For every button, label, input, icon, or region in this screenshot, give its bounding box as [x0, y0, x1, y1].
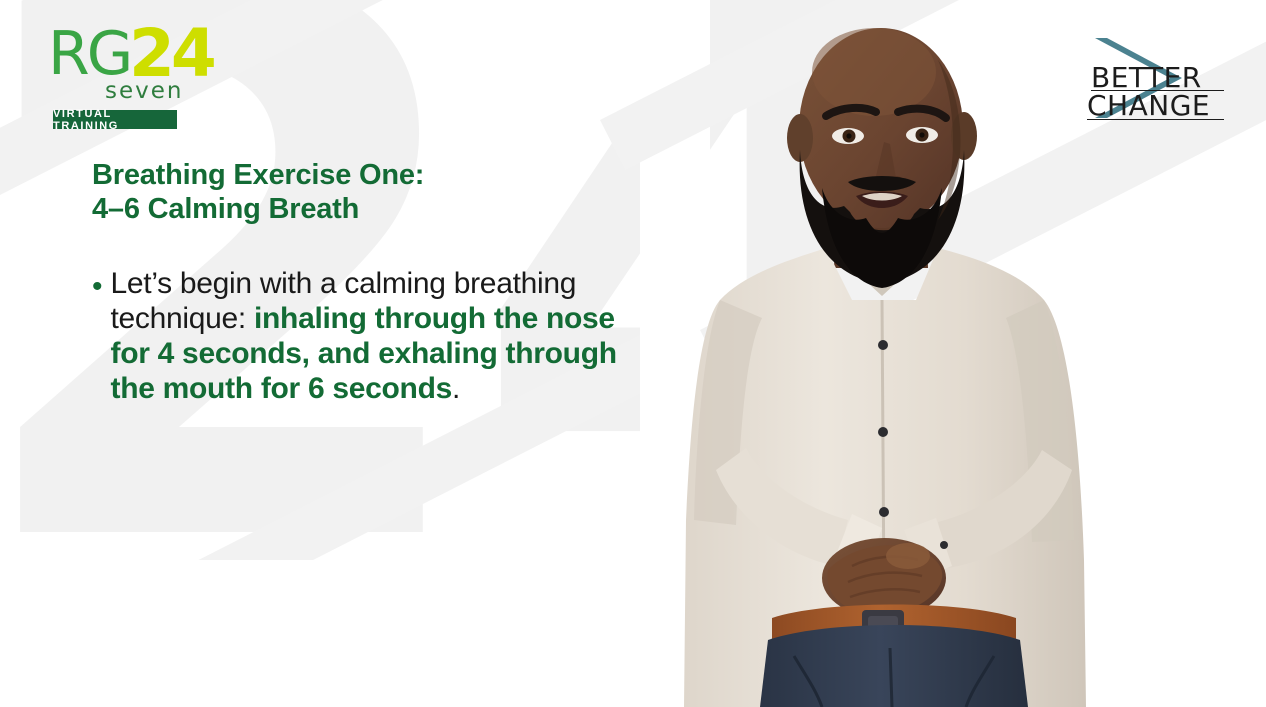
bullet-text: Let’s begin with a calming breathing tec… — [111, 266, 652, 406]
presenter-video-figure — [676, 0, 1116, 707]
bullet-list: • Let’s begin with a calming breathing t… — [92, 266, 652, 406]
list-item: • Let’s begin with a calming breathing t… — [92, 266, 652, 406]
bullet-marker-icon: • — [92, 266, 103, 308]
logo-seven-text: seven — [105, 80, 183, 103]
slide-title-line-1: Breathing Exercise One: — [92, 158, 652, 192]
slide-title-line-2: 4–6 Calming Breath — [92, 192, 652, 226]
slide-canvas: 24 RG 24 seven VIRTUAL TRAINING BETTER C… — [0, 0, 1266, 707]
slide-title: Breathing Exercise One: 4–6 Calming Brea… — [92, 158, 652, 226]
logo-rg-text: RG — [48, 24, 130, 84]
watermark-mask-bottom — [0, 560, 760, 707]
logo-virtual-training-banner: VIRTUAL TRAINING — [53, 110, 177, 129]
rg24seven-logo: RG 24 seven VIRTUAL TRAINING — [48, 24, 238, 116]
bullet-trailing-text: . — [452, 372, 460, 405]
